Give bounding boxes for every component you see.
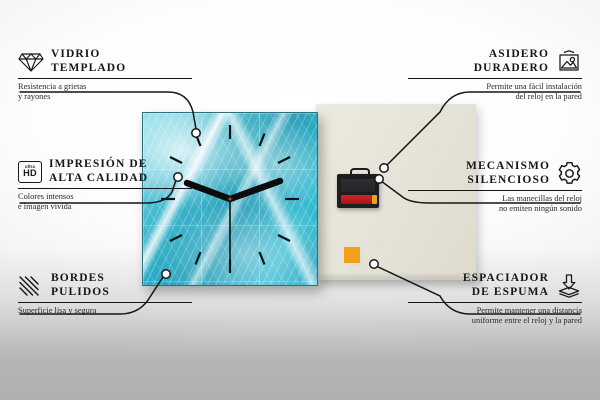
foam-spacer [344, 247, 360, 263]
feature-desc-line1: Superficie lisa y segura [18, 306, 192, 316]
gear-icon [557, 161, 582, 186]
feature-header: VIDRIO TEMPLADO [18, 48, 192, 75]
hour-hand [187, 183, 230, 199]
feature-title: ESPACIADOR DE ESPUMA [463, 272, 549, 299]
feature-desc-line2: no emiten ningún sonido [408, 204, 582, 214]
feature-title-line1: ASIDERO [474, 48, 549, 62]
feature-divider [18, 302, 192, 303]
polished-edges-icon [18, 275, 44, 297]
ultra-hd-icon-large-text: HD [23, 169, 37, 178]
feature-asidero-duradero: ASIDERO DURADERO Permite una fácil insta… [408, 48, 582, 102]
feature-title-line1: MECANISMO [466, 160, 550, 174]
feature-title-line1: IMPRESIÓN DE [49, 158, 148, 172]
feature-divider [408, 190, 582, 191]
feature-mecanismo-silencioso: MECANISMO SILENCIOSO Las manecillas del … [408, 160, 582, 214]
feature-title: VIDRIO TEMPLADO [51, 48, 126, 75]
battery-terminal [372, 195, 377, 204]
feature-desc-line1: Permite una fácil instalación [408, 82, 582, 92]
feature-title-line1: ESPACIADOR [463, 272, 549, 286]
feature-title-line2: DE ESPUMA [463, 286, 549, 300]
feature-divider [18, 78, 192, 79]
feature-title: IMPRESIÓN DE ALTA CALIDAD [49, 158, 148, 185]
feature-vidrio-templado: VIDRIO TEMPLADO Resistencia a grietas y … [18, 48, 192, 102]
picture-hanger-icon [556, 50, 582, 74]
feature-description: Superficie lisa y segura [18, 306, 192, 316]
feature-impresion-alta-calidad: ultra HD IMPRESIÓN DE ALTA CALIDAD Color… [18, 158, 192, 212]
feature-description: Las manecillas del reloj no emiten ningú… [408, 194, 582, 214]
feature-divider [408, 78, 582, 79]
feature-header: ultra HD IMPRESIÓN DE ALTA CALIDAD [18, 158, 192, 185]
feature-desc-line1: Resistencia a grietas [18, 82, 192, 92]
feature-title: BORDES PULIDOS [51, 272, 110, 299]
feature-divider [18, 188, 192, 189]
feature-desc-line1: Colores intensos [18, 192, 192, 202]
feature-desc-line1: Las manecillas del reloj [408, 194, 582, 204]
feature-description: Permite mantener una distancia uniforme … [408, 306, 582, 326]
feature-divider [408, 302, 582, 303]
feature-title-line2: TEMPLADO [51, 62, 126, 76]
infographic-canvas: VIDRIO TEMPLADO Resistencia a grietas y … [0, 0, 600, 400]
feature-header: BORDES PULIDOS [18, 272, 192, 299]
feature-title-line2: SILENCIOSO [466, 174, 550, 188]
feature-title-line2: PULIDOS [51, 286, 110, 300]
feature-title-line2: DURADERO [474, 62, 549, 76]
ultra-hd-icon: ultra HD [18, 161, 42, 183]
feature-header: ESPACIADOR DE ESPUMA [408, 272, 582, 299]
feature-title-line1: VIDRIO [51, 48, 126, 62]
feature-bordes-pulidos: BORDES PULIDOS Superficie lisa y segura [18, 272, 192, 316]
battery [341, 195, 372, 204]
diamond-icon [18, 51, 44, 73]
feature-desc-line1: Permite mantener una distancia [408, 306, 582, 316]
feature-title: MECANISMO SILENCIOSO [466, 160, 550, 187]
feature-description: Resistencia a grietas y rayones [18, 82, 192, 102]
feature-description: Permite una fácil instalación del reloj … [408, 82, 582, 102]
mechanism-panel [341, 179, 375, 192]
clock-mechanism [337, 168, 379, 208]
feature-desc-line2: y rayones [18, 92, 192, 102]
feature-espaciador-de-espuma: ESPACIADOR DE ESPUMA Permite mantener un… [408, 272, 582, 326]
feature-desc-line2: uniforme entre el reloj y la pared [408, 316, 582, 326]
feature-title-line2: ALTA CALIDAD [49, 172, 148, 186]
feature-title: ASIDERO DURADERO [474, 48, 549, 75]
foam-spacer-icon [556, 274, 582, 298]
feature-desc-line2: e imagen vívida [18, 202, 192, 212]
feature-header: MECANISMO SILENCIOSO [408, 160, 582, 187]
feature-desc-line2: del reloj en la pared [408, 92, 582, 102]
feature-description: Colores intensos e imagen vívida [18, 192, 192, 212]
feature-title-line1: BORDES [51, 272, 110, 286]
minute-hand [230, 181, 280, 199]
feature-header: ASIDERO DURADERO [408, 48, 582, 75]
